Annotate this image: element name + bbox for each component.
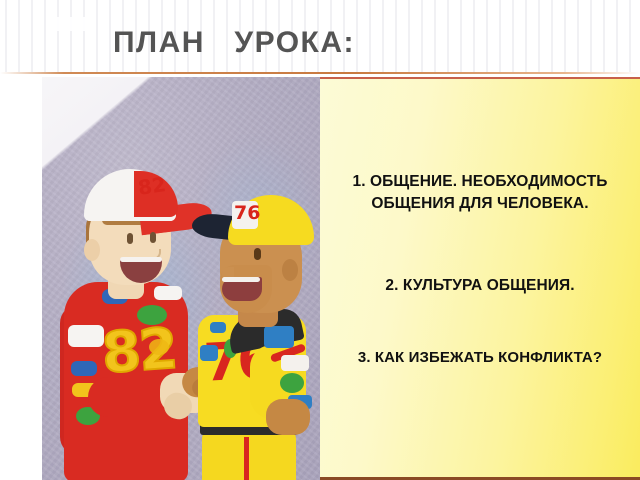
right-boy-teeth [222, 277, 260, 282]
plan-item-2: 2. КУЛЬТУРА ОБЩЕНИЯ. [320, 275, 640, 297]
right-boy-patch-blue-3 [264, 326, 294, 348]
slide-canvas: ПЛАН УРОКА: 82 [0, 0, 640, 480]
right-boy-eye [254, 248, 261, 260]
left-boy-eye-right [150, 232, 156, 243]
left-boy-ear [84, 239, 100, 261]
corner-cut-overlay [42, 77, 168, 183]
plan-text-panel: 1. ОБЩЕНИЕ. НЕОБХОДИМОСТЬ ОБЩЕНИЯ ДЛЯ ЧЕ… [320, 77, 640, 480]
right-boy-pants [202, 429, 296, 480]
right-boy-hand [266, 399, 310, 435]
left-boy-teeth [120, 257, 162, 262]
plan-item-3: 3. КАК ИЗБЕЖАТЬ КОНФЛИКТА? [320, 347, 640, 368]
right-boy-patch-blue-2 [200, 345, 218, 361]
left-boy-eye-left [127, 233, 133, 244]
right-boy-ear [282, 259, 298, 281]
left-boy-patch-yellow-2 [149, 339, 169, 355]
left-boy-patch-white-2 [68, 325, 104, 347]
right-boy-patch-blue-1 [210, 322, 226, 333]
right-boy-pant-stripe [244, 437, 249, 480]
right-boy-patch-white-1 [281, 355, 309, 371]
illustration-panel: 82 82 [42, 77, 320, 480]
header-divider-rule [0, 72, 640, 74]
right-boy-patch-green-3 [280, 373, 304, 393]
left-boy-patch-blue-2 [71, 361, 97, 376]
left-boy-patch-white-1 [154, 286, 182, 300]
plan-list: 1. ОБЩЕНИЕ. НЕОБХОДИМОСТЬ ОБЩЕНИЯ ДЛЯ ЧЕ… [320, 79, 640, 477]
left-boy-patch-green-1 [137, 305, 167, 325]
right-boy-cap-number: 76 [234, 202, 260, 224]
plan-item-1: 1. ОБЩЕНИЕ. НЕОБХОДИМОСТЬ ОБЩЕНИЯ ДЛЯ ЧЕ… [320, 171, 640, 215]
page-title: ПЛАН УРОКА: [0, 26, 640, 60]
